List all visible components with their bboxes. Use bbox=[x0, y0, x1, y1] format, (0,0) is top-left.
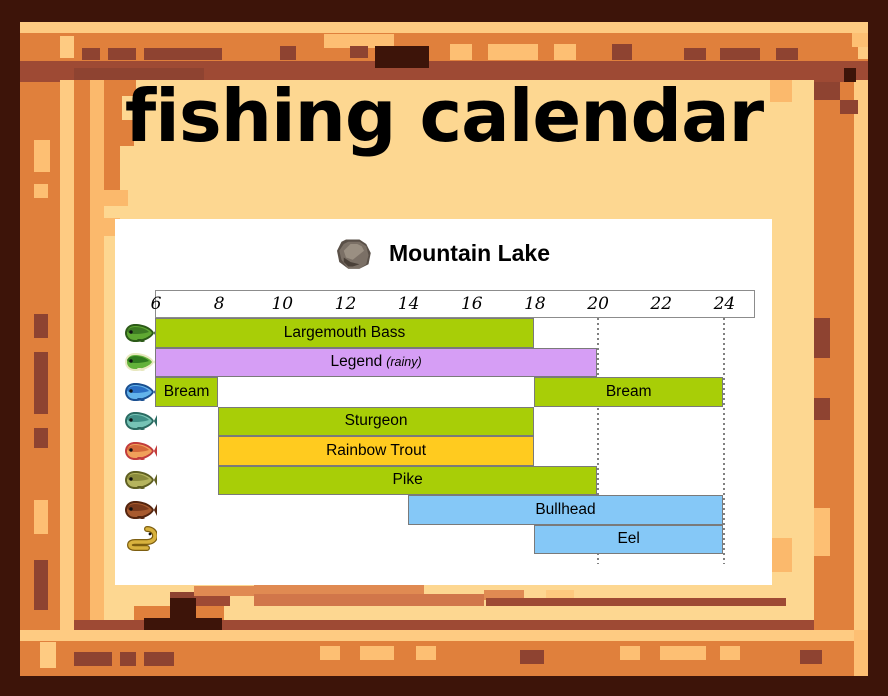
timeline-bar-label: Rainbow Trout bbox=[326, 442, 426, 460]
timeline-bar[interactable]: Legend(rainy) bbox=[155, 348, 597, 378]
fish-sturgeon-icon bbox=[122, 407, 158, 437]
axis-tick-16: 16 bbox=[461, 294, 483, 314]
timeline-bar[interactable]: Rainbow Trout bbox=[218, 436, 534, 466]
fish-eel-icon bbox=[122, 525, 158, 555]
timeline-row: Legend(rainy) bbox=[155, 348, 755, 378]
timeline-bar[interactable]: Sturgeon bbox=[218, 407, 534, 437]
timeline-bar-label: Largemouth Bass bbox=[284, 324, 406, 342]
timeline-bar[interactable]: Eel bbox=[534, 525, 723, 555]
frame-top-notch bbox=[375, 46, 429, 68]
timeline-bar-label: Legend bbox=[330, 353, 382, 371]
hour-axis: 681012141618202224 bbox=[155, 290, 755, 318]
frame-bottom-plank bbox=[20, 630, 868, 676]
timeline-bar-label: Sturgeon bbox=[345, 412, 408, 430]
timeline-row: Pike bbox=[155, 466, 755, 496]
timeline-row: Sturgeon bbox=[155, 407, 755, 437]
app-window: fishing calendar Mountain Lake 681012141… bbox=[0, 0, 888, 696]
axis-tick-24: 24 bbox=[714, 294, 736, 314]
calendar-card: Mountain Lake 681012141618202224 Largemo… bbox=[115, 219, 772, 585]
axis-tick-8: 8 bbox=[214, 294, 225, 314]
axis-tick-22: 22 bbox=[650, 294, 672, 314]
axis-tick-20: 20 bbox=[587, 294, 609, 314]
location-header: Mountain Lake bbox=[115, 231, 772, 275]
fish-bream-icon bbox=[122, 377, 158, 407]
axis-tick-12: 12 bbox=[335, 294, 357, 314]
fish-icon-column bbox=[122, 318, 158, 564]
axis-tick-18: 18 bbox=[524, 294, 546, 314]
page-title: fishing calendar bbox=[0, 80, 888, 152]
axis-tick-6: 6 bbox=[151, 294, 162, 314]
axis-tick-10: 10 bbox=[271, 294, 293, 314]
timeline-bar[interactable]: Largemouth Bass bbox=[155, 318, 534, 348]
timeline-bar-label: Bream bbox=[606, 383, 652, 401]
timeline-bar[interactable]: Bream bbox=[534, 377, 723, 407]
timeline-row: Rainbow Trout bbox=[155, 436, 755, 466]
frame-top-plank bbox=[20, 22, 868, 68]
frame-bottom-notch bbox=[170, 598, 196, 630]
timeline-bar-label: Eel bbox=[617, 530, 639, 548]
fish-largemouth-bass-icon bbox=[122, 318, 158, 348]
timeline-bar[interactable]: Bream bbox=[155, 377, 218, 407]
timeline-bar-note: (rainy) bbox=[386, 355, 421, 369]
timeline-bar-label: Bream bbox=[164, 383, 210, 401]
stone-icon bbox=[337, 237, 373, 269]
location-name: Mountain Lake bbox=[389, 240, 550, 267]
timeline-row: Largemouth Bass bbox=[155, 318, 755, 348]
frame-right-post bbox=[814, 68, 868, 630]
timeline-row: Bullhead bbox=[155, 495, 755, 525]
timeline-bar-label: Bullhead bbox=[535, 501, 595, 519]
fish-legend-icon bbox=[122, 348, 158, 378]
timeline-row: Eel bbox=[155, 525, 755, 555]
timeline-bar-label: Pike bbox=[393, 471, 423, 489]
timeline-bar[interactable]: Bullhead bbox=[408, 495, 724, 525]
timeline-row: BreamBream bbox=[155, 377, 755, 407]
timeline-plot: Largemouth BassLegend(rainy)BreamBreamSt… bbox=[155, 318, 755, 564]
timeline-bar[interactable]: Pike bbox=[218, 466, 597, 496]
fish-bullhead-icon bbox=[122, 495, 158, 525]
fish-rainbow-trout-icon bbox=[122, 436, 158, 466]
fish-pike-icon bbox=[122, 466, 158, 496]
frame-left-post bbox=[20, 68, 74, 630]
axis-tick-14: 14 bbox=[398, 294, 420, 314]
